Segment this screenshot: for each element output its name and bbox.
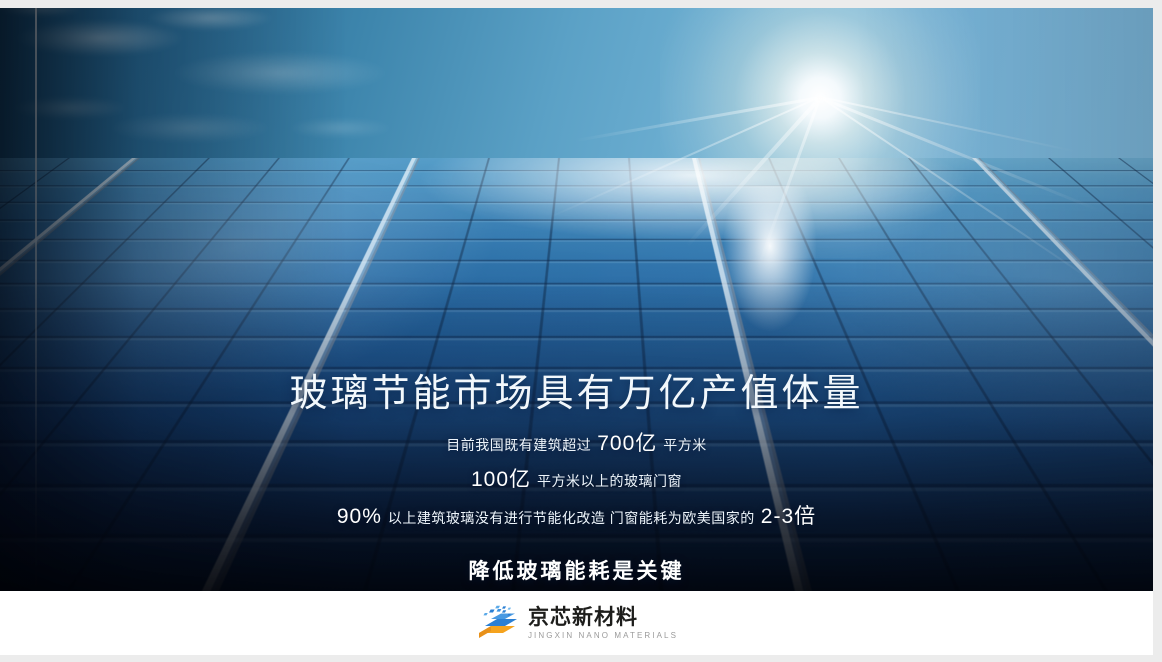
page-title: 玻璃节能市场具有万亿产值体量 — [0, 374, 1153, 416]
brand-wordmark: 京芯新材料 JINGXIN NANO MATERIALS — [528, 607, 678, 640]
stat-line-1-post: 平方米 — [663, 435, 707, 456]
jingxin-pixel-logo-icon — [475, 605, 519, 641]
brand-name-en: JINGXIN NANO MATERIALS — [528, 632, 678, 640]
stat-line-2-value: 100亿 — [471, 464, 531, 496]
brand-name-cn: 京芯新材料 — [528, 607, 678, 628]
brand-logo: 京芯新材料 JINGXIN NANO MATERIALS — [475, 605, 678, 641]
stat-line-1-pre: 目前我国既有建筑超过 — [446, 435, 591, 456]
slide-footer: 京芯新材料 JINGXIN NANO MATERIALS — [0, 591, 1153, 655]
stat-line-2-post: 平方米以上的玻璃门窗 — [537, 471, 682, 492]
hero-photo: 玻璃节能市场具有万亿产值体量 目前我国既有建筑超过 700亿 平方米 100亿 … — [0, 8, 1153, 592]
stat-line-3-mid: 以上建筑玻璃没有进行节能化改造 门窗能耗为欧美国家的 — [388, 508, 755, 529]
stat-line-1-value: 700亿 — [597, 428, 657, 460]
hero-text-block: 玻璃节能市场具有万亿产值体量 目前我国既有建筑超过 700亿 平方米 100亿 … — [0, 374, 1153, 585]
stat-line-1: 目前我国既有建筑超过 700亿 平方米 — [0, 428, 1153, 460]
stat-line-3-value: 90% — [337, 501, 382, 533]
stat-line-3: 90% 以上建筑玻璃没有进行节能化改造 门窗能耗为欧美国家的 2-3倍 — [0, 501, 1153, 533]
stat-line-3-value-2: 2-3倍 — [761, 501, 816, 533]
key-message: 降低玻璃能耗是关键 — [0, 555, 1153, 585]
stat-line-2: 100亿 平方米以上的玻璃门窗 — [0, 464, 1153, 496]
presentation-slide: 玻璃节能市场具有万亿产值体量 目前我国既有建筑超过 700亿 平方米 100亿 … — [0, 0, 1162, 662]
